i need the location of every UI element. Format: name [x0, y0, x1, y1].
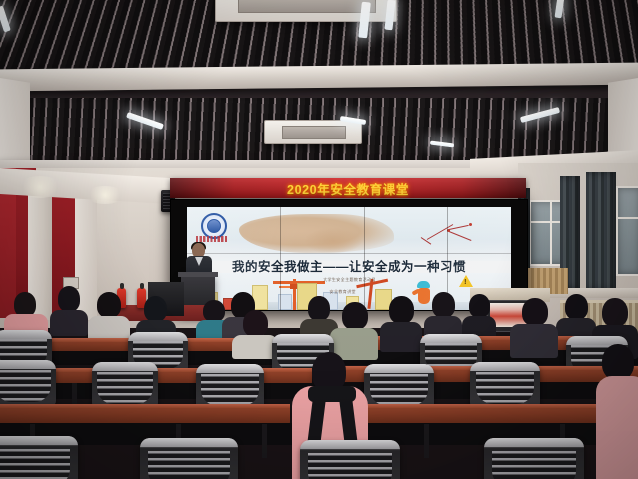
- chair-rim: [470, 362, 540, 371]
- chair-rim: [0, 360, 56, 369]
- ac-cassette-unit-lower: [264, 120, 362, 144]
- chair-slats: [0, 370, 51, 402]
- person: [50, 286, 88, 332]
- desk-leg: [262, 424, 267, 458]
- warning-sign-icon: [459, 275, 473, 287]
- desk-leg: [72, 383, 77, 405]
- slide-subtitle-2: 安全教育讲堂: [330, 289, 356, 295]
- chair[interactable]: [92, 362, 158, 408]
- person-head: [602, 344, 634, 380]
- university-seal-icon: [197, 213, 227, 243]
- chair-slats: [476, 372, 535, 404]
- chair-back: [140, 438, 238, 479]
- person-head: [522, 298, 548, 326]
- chair-rim: [272, 334, 334, 343]
- person-body: [596, 376, 638, 479]
- chair-back: [0, 360, 56, 406]
- chair-rim: [420, 334, 482, 343]
- person-head: [389, 296, 414, 324]
- ceiling-downlight-glow: [18, 176, 62, 198]
- person-head: [308, 296, 330, 321]
- person-head: [602, 298, 628, 327]
- chair-back: [300, 440, 400, 479]
- person-head: [565, 294, 588, 320]
- ac-grille: [238, 0, 377, 13]
- person: [380, 296, 422, 348]
- person-head: [97, 292, 121, 318]
- chair-slats: [97, 372, 152, 404]
- person: [510, 298, 558, 354]
- person: [424, 292, 462, 340]
- panel-seam: [364, 207, 365, 310]
- person-body: [510, 324, 558, 358]
- chair[interactable]: [300, 440, 400, 479]
- panel-seam: [280, 207, 281, 310]
- ceiling-beam-left: [0, 78, 30, 172]
- chair-rim: [128, 332, 188, 341]
- chair-rim: [0, 330, 52, 339]
- event-banner-text: 2020年安全教育课堂: [287, 179, 409, 198]
- chair-rim: [0, 436, 78, 445]
- chair-back: [484, 438, 584, 479]
- flight-route-graphic: [419, 221, 479, 251]
- chair-back: [0, 436, 78, 479]
- window-mullion: [550, 202, 552, 264]
- ceiling-downlight-glow: [86, 186, 124, 204]
- person-foreground-right: [596, 366, 638, 479]
- route-line: [449, 225, 469, 230]
- chair-rim: [92, 362, 158, 371]
- person-head: [144, 296, 167, 322]
- person-head: [58, 286, 80, 312]
- person-head: [432, 292, 455, 318]
- person: [556, 294, 596, 342]
- route-line: [448, 231, 471, 241]
- event-banner: 2020年安全教育课堂: [170, 178, 526, 198]
- route-line: [426, 224, 452, 240]
- podium-top: [178, 272, 218, 277]
- person-head: [342, 302, 368, 330]
- desk-leg: [424, 424, 429, 458]
- chair-back: [470, 362, 540, 408]
- person-body: [50, 310, 88, 336]
- window-right: [616, 186, 638, 276]
- desk-edge: [0, 404, 290, 408]
- person: [330, 302, 378, 356]
- ac-grille: [282, 126, 345, 139]
- person-head: [469, 294, 490, 318]
- ceiling: [0, 0, 638, 172]
- route-node: [469, 223, 472, 226]
- chair[interactable]: [0, 436, 78, 479]
- person-body: [380, 322, 422, 352]
- curtain-right[interactable]: [586, 172, 616, 290]
- desk-row-3-left: [0, 404, 290, 424]
- chair-rim: [140, 438, 238, 447]
- chair-rim: [196, 364, 264, 373]
- window-mullion: [618, 217, 638, 219]
- chair-slats: [492, 451, 576, 479]
- chair-rim: [364, 364, 434, 373]
- chair-slats: [0, 449, 70, 479]
- panel-seam: [187, 253, 511, 254]
- person: [88, 292, 130, 340]
- chair[interactable]: [0, 360, 56, 406]
- chair-slats: [370, 374, 429, 406]
- person-head: [243, 310, 268, 337]
- chair-slats: [148, 451, 230, 479]
- chair[interactable]: [140, 438, 238, 479]
- chair-rim: [484, 438, 584, 447]
- slide-subtitle-1: 大学生安全主题教育活动月: [323, 277, 376, 283]
- hard-hat-icon: [417, 281, 430, 288]
- chair-slats: [308, 453, 392, 479]
- backpack-top: [308, 386, 356, 402]
- classroom-photo-scene: 2020年安全教育课堂 我的安全我做主——让安全成为一种习惯: [0, 0, 638, 479]
- chair[interactable]: [470, 362, 540, 408]
- chair-rim: [300, 440, 400, 449]
- chair-slats: [201, 374, 258, 406]
- chair[interactable]: [484, 438, 584, 479]
- chair-back: [92, 362, 158, 408]
